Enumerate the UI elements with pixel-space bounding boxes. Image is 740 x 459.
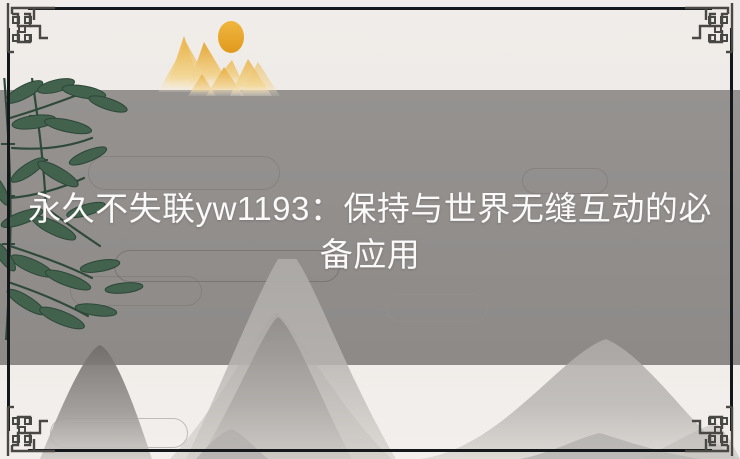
page-title-text: 永久不失联yw1193：保持与世界无缝互动的必备应用 [28,186,712,278]
frame-line-top [28,7,712,10]
chinese-fret-corner-icon [0,403,56,459]
chinese-fret-corner-icon [684,403,740,459]
page-title: 永久不失联yw1193：保持与世界无缝互动的必备应用 [0,186,740,278]
gold-mountain-illustration [140,12,340,97]
frame-line-bottom [28,449,712,452]
chinese-fret-corner-icon [684,0,740,56]
chinese-fret-corner-icon [0,0,56,56]
poster-canvas: 永久不失联yw1193：保持与世界无缝互动的必备应用 [0,0,740,459]
